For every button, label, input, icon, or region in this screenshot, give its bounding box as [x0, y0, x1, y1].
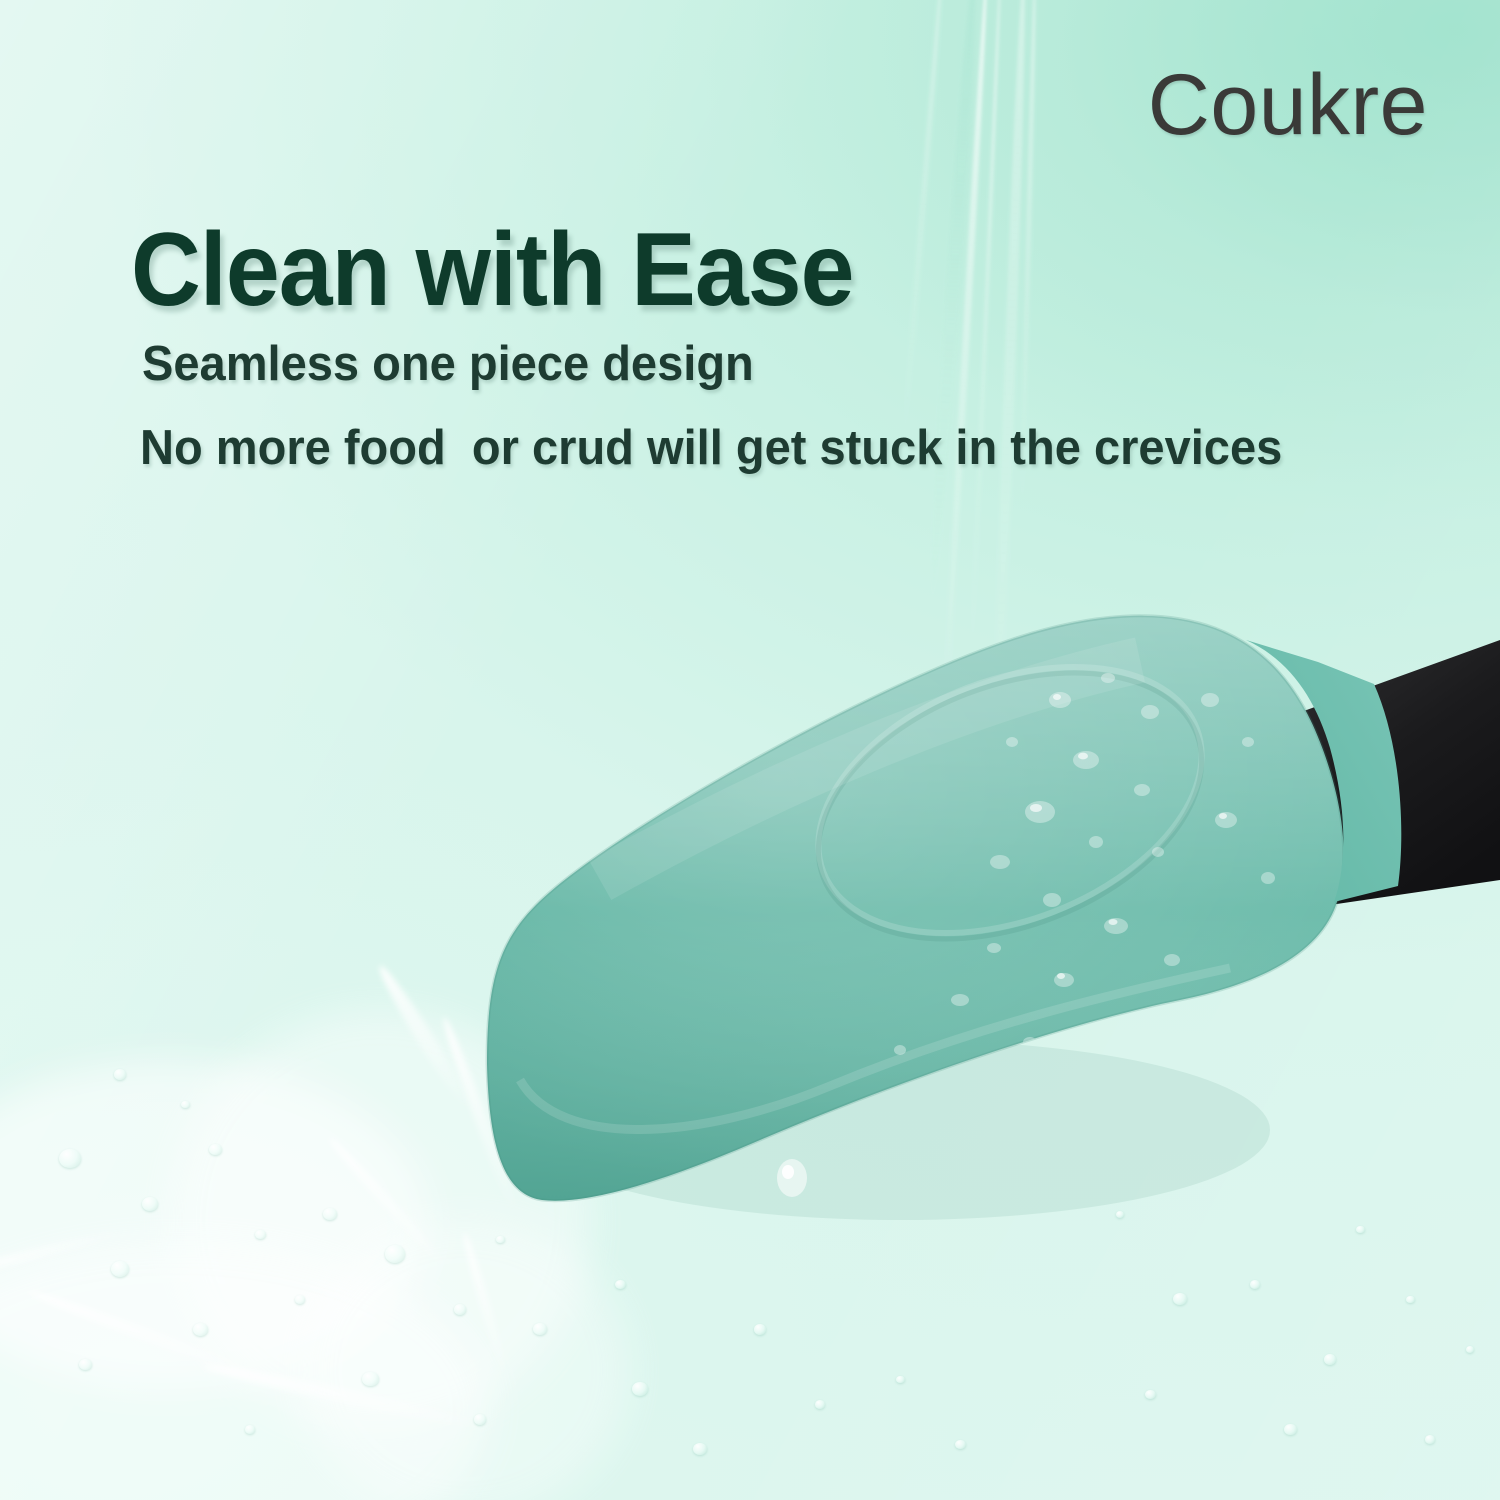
- subheading-line-2: No more food or crud will get stuck in t…: [140, 424, 1282, 473]
- product-marketing-image: Coukre Clean with Ease Seamless one piec…: [0, 0, 1500, 1500]
- brand-logo-text: Coukre: [1148, 62, 1428, 148]
- page-title: Clean with Ease: [131, 218, 853, 322]
- subheading-line-1: Seamless one piece design: [142, 340, 754, 389]
